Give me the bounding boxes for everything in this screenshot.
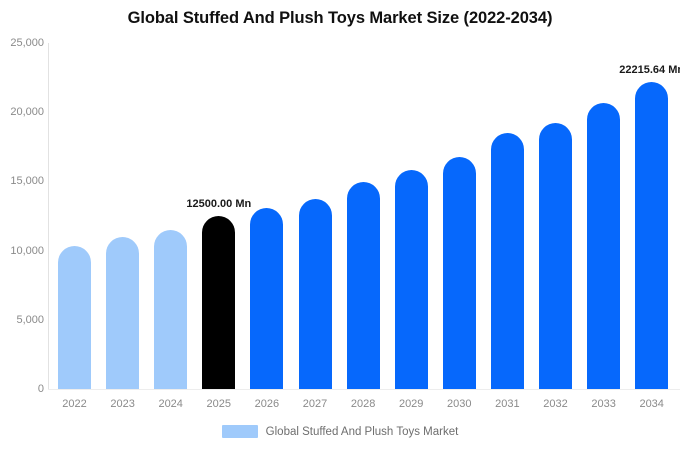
- bar-2033[interactable]: [587, 103, 620, 389]
- bar-group[interactable]: [299, 43, 332, 389]
- chart-legend[interactable]: Global Stuffed And Plush Toys Market: [0, 425, 680, 438]
- y-axis-tick-labels: 05,00010,00015,00020,00025,000: [0, 0, 44, 450]
- y-axis-tick-label: 5,000: [2, 314, 44, 326]
- bar-2032[interactable]: [539, 123, 572, 389]
- bar-group[interactable]: [491, 43, 524, 389]
- bar-group[interactable]: [635, 43, 668, 389]
- x-axis-tick-label: 2030: [447, 398, 471, 410]
- bar-2025[interactable]: [202, 216, 235, 389]
- bar-group[interactable]: [250, 43, 283, 389]
- bar-2023[interactable]: [106, 237, 139, 389]
- y-axis-tick-label: 15,000: [2, 175, 44, 187]
- x-axis-tick-label: 2025: [207, 398, 231, 410]
- legend-label: Global Stuffed And Plush Toys Market: [266, 426, 459, 438]
- bar-chart: Global Stuffed And Plush Toys Market Siz…: [0, 0, 680, 450]
- bar-2029[interactable]: [395, 170, 428, 389]
- bar-group[interactable]: [539, 43, 572, 389]
- bar-value-label: 12500.00 Mn: [186, 198, 251, 210]
- y-axis-tick-label: 20,000: [2, 106, 44, 118]
- x-axis-tick-label: 2023: [110, 398, 134, 410]
- bar-2022[interactable]: [58, 246, 91, 389]
- bar-value-label: 22215.64 Mn: [619, 64, 680, 76]
- bar-group[interactable]: [154, 43, 187, 389]
- plot-area: [48, 43, 680, 389]
- bar-group[interactable]: [395, 43, 428, 389]
- x-axis-tick-label: 2022: [62, 398, 86, 410]
- x-axis-tick-label: 2029: [399, 398, 423, 410]
- x-axis-tick-label: 2026: [255, 398, 279, 410]
- bar-group[interactable]: [587, 43, 620, 389]
- bar-2024[interactable]: [154, 230, 187, 389]
- bar-group[interactable]: [443, 43, 476, 389]
- x-axis-tick-label: 2032: [543, 398, 567, 410]
- x-axis-tick-label: 2033: [591, 398, 615, 410]
- x-axis-tick-label: 2024: [158, 398, 182, 410]
- x-axis-tick-label: 2031: [495, 398, 519, 410]
- bar-2031[interactable]: [491, 133, 524, 389]
- bar-group[interactable]: [347, 43, 380, 389]
- bar-group[interactable]: [58, 43, 91, 389]
- x-axis-tick-label: 2034: [639, 398, 663, 410]
- y-axis-tick-label: 25,000: [2, 37, 44, 49]
- bar-2027[interactable]: [299, 199, 332, 389]
- bar-2028[interactable]: [347, 182, 380, 389]
- bar-2034[interactable]: [635, 82, 668, 389]
- x-axis-line: [48, 389, 680, 390]
- chart-title: Global Stuffed And Plush Toys Market Siz…: [0, 9, 680, 28]
- legend-swatch: [222, 425, 258, 438]
- x-axis-tick-label: 2028: [351, 398, 375, 410]
- bar-2026[interactable]: [250, 208, 283, 389]
- y-axis-tick-label: 10,000: [2, 245, 44, 257]
- bar-group[interactable]: [202, 43, 235, 389]
- x-axis-tick-label: 2027: [303, 398, 327, 410]
- bar-2030[interactable]: [443, 157, 476, 389]
- bar-group[interactable]: [106, 43, 139, 389]
- y-axis-tick-label: 0: [2, 383, 44, 395]
